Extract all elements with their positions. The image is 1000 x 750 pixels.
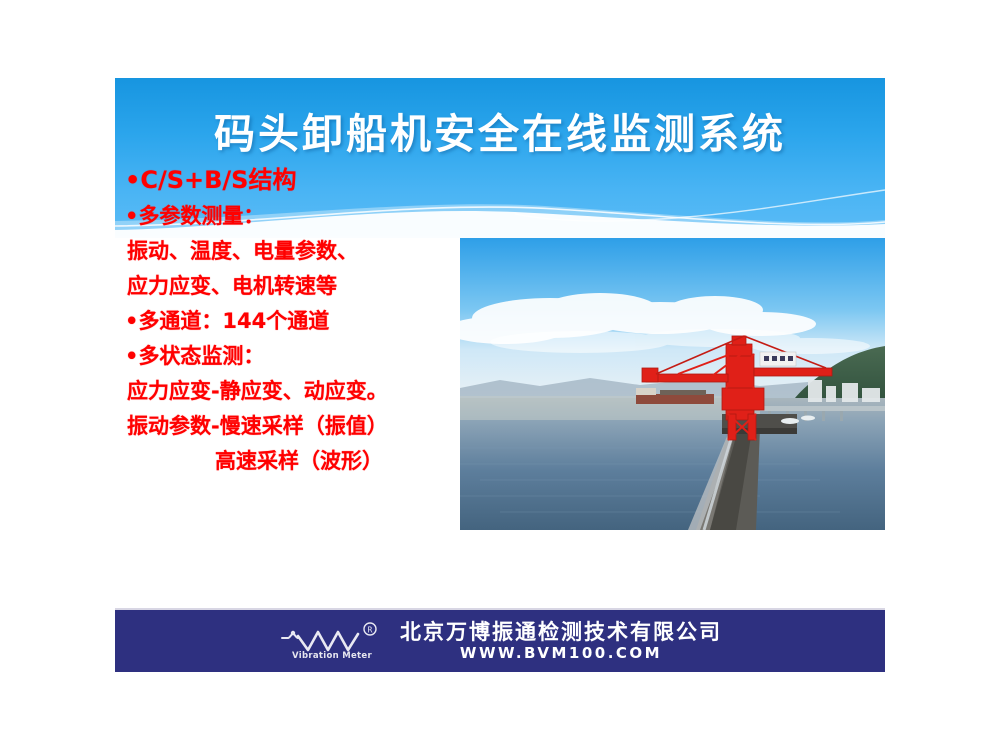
company-logo: R Vibration Meter <box>278 622 386 661</box>
bullet-list: •C/S+B/S结构 •多参数测量： 振动、温度、电量参数、 应力应变、电机转速… <box>125 168 485 486</box>
list-item: •多状态监测： <box>125 346 485 367</box>
bullet-text: 应力应变、电机转速等 <box>127 274 337 298</box>
list-item: •多参数测量： <box>125 206 485 227</box>
bullet-marker: • <box>125 346 138 367</box>
slide-title: 码头卸船机安全在线监测系统 <box>115 100 885 160</box>
company-name-cn: 北京万博振通检测技术有限公司 <box>400 622 722 643</box>
bullet-text: 振动、温度、电量参数、 <box>127 239 358 263</box>
bullet-marker: • <box>125 206 138 227</box>
photo-illustration <box>460 238 885 530</box>
company-website[interactable]: WWW.BVM100.COM <box>460 646 662 661</box>
bullet-marker: • <box>125 311 138 332</box>
list-item: 高速采样（波形） <box>125 451 485 472</box>
bullet-text: 多通道：144个通道 <box>138 309 329 333</box>
waveform-logo-icon: R <box>278 622 386 656</box>
list-item: •C/S+B/S结构 <box>125 168 485 192</box>
list-item: 振动、温度、电量参数、 <box>125 241 485 262</box>
list-item: 振动参数-慢速采样（振值） <box>125 416 485 437</box>
svg-text:R: R <box>367 625 372 634</box>
bullet-text: 多参数测量： <box>138 204 264 228</box>
bullet-text: C/S+B/S结构 <box>140 166 296 194</box>
dock-unloader-photo <box>460 238 885 530</box>
slide-footer: R Vibration Meter 北京万博振通检测技术有限公司 WWW.BVM… <box>115 608 885 672</box>
bullet-text: 高速采样（波形） <box>215 449 383 473</box>
list-item: 应力应变-静应变、动应变。 <box>125 381 485 402</box>
presentation-slide: 码头卸船机安全在线监测系统 •C/S+B/S结构 •多参数测量： 振动、温度、电… <box>0 0 1000 750</box>
bullet-text: 应力应变-静应变、动应变。 <box>127 379 388 403</box>
bullet-marker: • <box>125 168 140 192</box>
bullet-text: 多状态监测： <box>138 344 264 368</box>
vibration-meter-icon: R <box>278 622 386 656</box>
bullet-text: 振动参数-慢速采样（振值） <box>127 414 388 438</box>
list-item: 应力应变、电机转速等 <box>125 276 485 297</box>
list-item: •多通道：144个通道 <box>125 311 485 332</box>
company-identity: 北京万博振通检测技术有限公司 WWW.BVM100.COM <box>400 622 722 661</box>
